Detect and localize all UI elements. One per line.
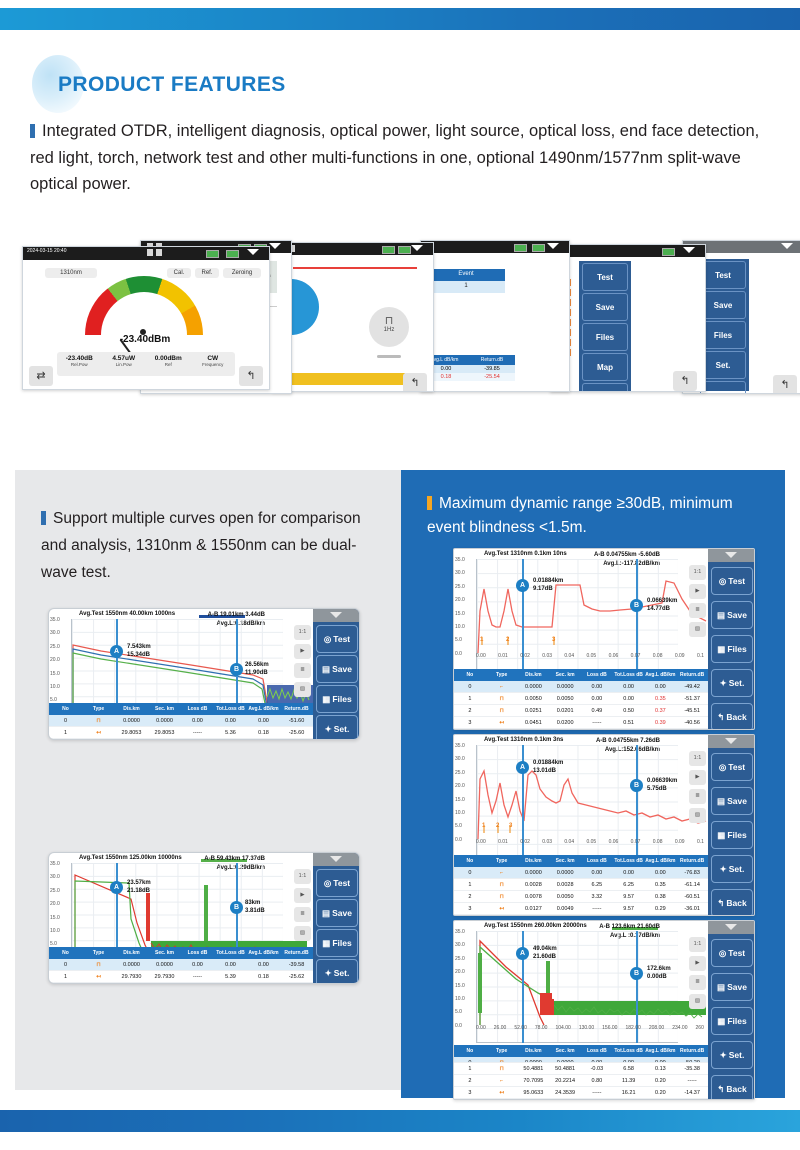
cell-sec: 50.4881 bbox=[549, 1063, 581, 1074]
target-icon: ◎ bbox=[324, 878, 331, 889]
play-icon[interactable]: ▶ bbox=[689, 770, 706, 785]
readout-label: Rel.Pow bbox=[57, 362, 102, 367]
plot-tools[interactable]: 1:1 ▶ ≣ ▨ bbox=[689, 751, 706, 827]
table-row[interactable]: 0 ⌐ 0.0000 0.0000 0.00 0.00 0.00 -49.42 bbox=[454, 681, 708, 693]
menu-item-test[interactable]: Test bbox=[582, 263, 628, 291]
menu-item-files[interactable]: Files bbox=[700, 321, 746, 349]
power-meter-body: 1310nm Cal. Ref. Zeroing -23.40dBm -23.4… bbox=[23, 260, 269, 390]
table-row[interactable]: 1 ⊓ 0.0028 0.0028 6.25 6.25 0.35 -61.14 bbox=[454, 879, 708, 891]
y-tick: 30.0 bbox=[50, 630, 60, 643]
plot-tools[interactable]: 1:1 ▶ ≣ ▨ bbox=[294, 625, 311, 701]
settings-button[interactable]: ✦Set. bbox=[316, 959, 358, 984]
cell-sec: 24.3539 bbox=[549, 1087, 581, 1098]
cell-tot: 0.00 bbox=[613, 867, 645, 878]
files-button[interactable]: ▦Files bbox=[711, 821, 753, 849]
x-tick: 0.07 bbox=[631, 653, 641, 659]
cell-avg: 0.35 bbox=[645, 879, 677, 890]
col-return: Return.dB bbox=[280, 703, 313, 715]
col-tot: Tot.Loss dB bbox=[613, 855, 645, 867]
col-return: Return.dB bbox=[676, 855, 708, 867]
marker-b-loss: 0.00dB bbox=[647, 973, 671, 981]
x-tick: 52.00 bbox=[514, 1025, 527, 1031]
folder-icon: ▦ bbox=[322, 694, 330, 705]
save-button[interactable]: ▤Save bbox=[316, 655, 358, 683]
cell-dis: 0.0000 bbox=[518, 1057, 550, 1062]
list-icon[interactable]: ≣ bbox=[294, 663, 311, 678]
cell-tot: 9.57 bbox=[613, 891, 645, 902]
x-tick: 0.07 bbox=[631, 839, 641, 845]
table-row[interactable]: 2 ⌐ 70.7095 20.2214 0.80 11.39 0.20 ----… bbox=[454, 1075, 708, 1087]
readout-value: 4.57uW bbox=[102, 355, 147, 362]
chart-icon[interactable]: ▨ bbox=[294, 926, 311, 941]
cell-dis: 0.0127 bbox=[518, 903, 550, 914]
bullet-marker bbox=[427, 496, 432, 510]
cell-dis: 29.8053 bbox=[115, 727, 148, 738]
settings-button[interactable]: ✦Set. bbox=[316, 715, 358, 740]
cell-type-icon: ⊓ bbox=[82, 715, 115, 726]
cell-tot: 9.57 bbox=[613, 903, 645, 914]
test-button[interactable]: ◎Test bbox=[316, 625, 358, 653]
y-tick: 30.0 bbox=[455, 942, 465, 955]
col-avg: Avg.L dB/km bbox=[645, 855, 677, 867]
gear-icon: ✦ bbox=[325, 724, 332, 735]
otdr-plot: Avg.Test 1310nm 0.1km 10ns A-B 0.04755km… bbox=[454, 549, 708, 729]
target-icon: ◎ bbox=[719, 762, 726, 773]
col-avg: Avg.L dB/km bbox=[645, 669, 677, 681]
side-button-bar: ◎Test ▤Save ▦Files ✦Set. ↰Back bbox=[708, 735, 754, 915]
list-icon[interactable]: ≣ bbox=[689, 789, 706, 804]
table-row[interactable]: 0 ⊓ 0.0000 0.0000 0.00 0.00 0.00 -51.60 bbox=[49, 715, 313, 727]
cell-loss: ----- bbox=[581, 1087, 613, 1098]
panel-left-label: Support multiple curves open for compari… bbox=[41, 510, 361, 581]
table-row[interactable]: 2 ⊓ 0.0251 0.0201 0.49 0.50 0.37 -45.51 bbox=[454, 705, 708, 717]
menu-item-map[interactable]: Map bbox=[582, 353, 628, 381]
status-bar-yellow bbox=[281, 373, 405, 385]
y-tick: 15.0 bbox=[455, 983, 465, 996]
sd-card-icon bbox=[156, 249, 162, 256]
test-button[interactable]: ◎Test bbox=[711, 939, 753, 967]
marker-a[interactable]: A bbox=[110, 881, 123, 894]
y-tick: 35.0 bbox=[455, 929, 465, 942]
cell-loss: -0.03 bbox=[581, 1063, 613, 1074]
floppy-icon: ▤ bbox=[717, 982, 725, 993]
x-tick: 0.01 bbox=[498, 653, 508, 659]
ratio-button[interactable]: 1:1 bbox=[689, 937, 706, 952]
cell-no: 2 bbox=[454, 891, 486, 902]
cell-no: 1 bbox=[454, 693, 486, 704]
gear-icon: ✦ bbox=[325, 968, 332, 979]
plot-tools[interactable]: 1:1 ▶ ≣ ▨ bbox=[689, 937, 706, 1013]
y-tick: 15.0 bbox=[455, 611, 465, 624]
menu-item-back[interactable]: Back bbox=[700, 381, 746, 394]
marker-b-label: 0.06639km 5.75dB bbox=[647, 777, 677, 793]
red-line-decoration bbox=[293, 267, 417, 269]
col-dis: Dis.km bbox=[115, 947, 148, 959]
save-button[interactable]: ▤Save bbox=[711, 973, 753, 1001]
cell-dis: 0.0000 bbox=[115, 715, 148, 726]
marker-a[interactable]: A bbox=[110, 645, 123, 658]
x-tick: 130.00 bbox=[579, 1025, 594, 1031]
chart-title: Avg.Test 1310nm 0.1km 3ns bbox=[484, 737, 704, 743]
col-return: Return.dB bbox=[676, 1045, 708, 1057]
x-tick: 0.08 bbox=[653, 653, 663, 659]
cell-type-icon: ↤ bbox=[82, 727, 115, 738]
event-mark-2: 2 bbox=[506, 637, 509, 643]
save-button[interactable]: ▤Save bbox=[316, 899, 358, 927]
panel-right-text: Maximum dynamic range ≥30dB, minimum eve… bbox=[427, 492, 767, 540]
cell-sec: 0.0000 bbox=[549, 681, 581, 692]
otdr-screenshot-left-1: Avg.Test 1550nm 40.00km 1000ns A-B 19.01… bbox=[48, 608, 360, 740]
chart-icon[interactable]: ▨ bbox=[689, 994, 706, 1009]
cell-loss: ----- bbox=[581, 903, 613, 914]
cell-sec: 0.0000 bbox=[549, 867, 581, 878]
menu-item-test[interactable]: Test bbox=[700, 261, 746, 289]
panel-right-label: Maximum dynamic range ≥30dB, minimum eve… bbox=[427, 495, 733, 536]
y-axis: 35.0 30.0 25.0 20.0 15.0 10.0 5.0 0.0 bbox=[455, 743, 465, 850]
cell-return: -61.14 bbox=[676, 879, 708, 890]
event-table: No Type Dis.km Sec. km Loss dB Tot.Loss … bbox=[454, 669, 708, 729]
cell-type-icon: ↤ bbox=[486, 1087, 518, 1098]
marker-a-label: 23.57km 21.18dB bbox=[127, 879, 151, 895]
gear-icon: ✦ bbox=[720, 678, 727, 689]
panel-multi-curve: Support multiple curves open for compari… bbox=[15, 470, 401, 1090]
y-tick: 5.0 bbox=[455, 823, 465, 836]
zeroing-button[interactable]: Zeroing bbox=[223, 268, 261, 278]
cell-type-icon: ↤ bbox=[82, 971, 115, 982]
cell-sec: 0.0050 bbox=[549, 891, 581, 902]
cell-sec: 0.0000 bbox=[148, 715, 181, 726]
event-mark-3: 3 bbox=[509, 823, 512, 829]
cell-sec: 0.0000 bbox=[148, 959, 181, 970]
menu-item-save[interactable]: Save bbox=[582, 293, 628, 321]
cell-dis: 0.0000 bbox=[518, 681, 550, 692]
cell-no: 0 bbox=[454, 681, 486, 692]
cell-avg: 0.00 bbox=[645, 867, 677, 878]
play-icon[interactable]: ▶ bbox=[689, 584, 706, 599]
cell-no: 0 bbox=[49, 715, 82, 726]
play-icon[interactable]: ▶ bbox=[294, 888, 311, 903]
cell-avg: 0.20 bbox=[645, 1075, 677, 1086]
marker-a-label: 0.01884km 13.01dB bbox=[533, 759, 563, 775]
cell-type-icon: ↤ bbox=[486, 903, 518, 914]
col-loss: Loss dB bbox=[181, 947, 214, 959]
test-button[interactable]: ◎Test bbox=[711, 567, 753, 595]
marker-a-loss: 9.17dB bbox=[533, 585, 563, 593]
marker-b-label: 83km 3.81dB bbox=[245, 899, 265, 915]
marker-a[interactable]: A bbox=[516, 947, 529, 960]
gear-icon: ✦ bbox=[720, 1050, 727, 1061]
settings-button[interactable]: ✦Set. bbox=[711, 669, 753, 697]
y-tick: 25.0 bbox=[455, 770, 465, 783]
cell-loss: 0.00 bbox=[581, 1057, 613, 1062]
cell-type-icon: ⊓ bbox=[486, 1063, 518, 1074]
x-tick: 234.00 bbox=[672, 1025, 687, 1031]
marker-a-loss: 13.01dB bbox=[533, 767, 563, 775]
y-tick: 30.0 bbox=[455, 570, 465, 583]
table-row[interactable]: 1 ⊓ 0.0050 0.0050 0.00 0.00 0.35 -51.37 bbox=[454, 693, 708, 705]
play-icon[interactable]: ▶ bbox=[689, 956, 706, 971]
y-tick: 10.0 bbox=[455, 996, 465, 1009]
cell-no: 3 bbox=[454, 903, 486, 914]
marker-a-loss: 21.18dB bbox=[127, 887, 151, 895]
cell-sec: 0.0049 bbox=[549, 903, 581, 914]
table-row[interactable]: 3 ↤ 0.0451 0.0200 ----- 0.51 0.39 -40.56 bbox=[454, 717, 708, 729]
y-tick: 0.0 bbox=[455, 1023, 465, 1036]
y-tick: 10.0 bbox=[50, 928, 60, 941]
y-tick: 10.0 bbox=[455, 810, 465, 823]
col-tot: Tot.Loss dB bbox=[214, 947, 247, 959]
cell-type-icon: ⊓ bbox=[486, 891, 518, 902]
cell-return: -25.62 bbox=[280, 971, 313, 982]
swap-icon[interactable]: ⇄ bbox=[29, 366, 53, 386]
settings-button[interactable]: ✦Set. bbox=[711, 1041, 753, 1069]
cell-tot: 0.00 bbox=[613, 693, 645, 704]
readout-label: Frequency bbox=[191, 362, 236, 367]
floppy-icon: ▤ bbox=[322, 908, 330, 919]
marker-b-loss: 14.77dB bbox=[647, 605, 677, 613]
plot-tools[interactable]: 1:1 ▶ ≣ ▨ bbox=[294, 869, 311, 945]
col-return: Return.dB bbox=[676, 669, 708, 681]
cell-loss: ----- bbox=[181, 971, 214, 982]
col-avg: Avg.L dB/km bbox=[247, 947, 280, 959]
panel-dynamic-range: Maximum dynamic range ≥30dB, minimum eve… bbox=[401, 470, 785, 1098]
marker-b[interactable]: B bbox=[630, 779, 643, 792]
y-tick: 25.0 bbox=[455, 584, 465, 597]
table-row[interactable]: 1 ↤ 29.8053 29.8053 ----- 5.36 0.18 -25.… bbox=[49, 727, 313, 739]
cell-return: -49.42 bbox=[676, 681, 708, 692]
side-button-bar: ◎Test ▤Save ▦Files ✦Set. ↰Back bbox=[313, 609, 359, 739]
x-tick: 0.1 bbox=[697, 839, 704, 845]
trace-curves bbox=[71, 619, 313, 713]
cell-return: ----- bbox=[676, 1075, 708, 1086]
col-type: Type bbox=[82, 703, 115, 715]
gear-icon: ✦ bbox=[720, 864, 727, 875]
cell-type-icon: ⊓ bbox=[82, 959, 115, 970]
cell-tot: 11.39 bbox=[613, 1075, 645, 1086]
list-icon[interactable]: ≣ bbox=[294, 907, 311, 922]
y-tick: 30.0 bbox=[50, 874, 60, 887]
device-screen-power-meter: 2024-03-15 20:40 1310nm Cal. Ref. Zeroin… bbox=[22, 246, 270, 390]
col-dis: Dis.km bbox=[115, 703, 148, 715]
table-row[interactable]: 1 ↤ 29.7930 29.7930 ----- 5.39 0.18 -25.… bbox=[49, 971, 313, 983]
marker-b[interactable]: B bbox=[230, 901, 243, 914]
list-icon[interactable]: ≣ bbox=[689, 975, 706, 990]
y-tick: 10.0 bbox=[50, 684, 60, 697]
chart-icon[interactable]: ▨ bbox=[294, 682, 311, 697]
table-row[interactable]: 0 ⊓ 0.0000 0.0000 0.00 0.00 0.00 -39.58 bbox=[49, 959, 313, 971]
back-icon[interactable]: ↰ bbox=[403, 373, 427, 392]
save-button[interactable]: ▤Save bbox=[711, 601, 753, 629]
play-icon[interactable]: ▶ bbox=[294, 644, 311, 659]
chart-title: Avg.Test 1550nm 260.00km 20000ns bbox=[484, 923, 704, 929]
test-button[interactable]: ◎Test bbox=[711, 753, 753, 781]
cell-loss: 0.00 bbox=[181, 715, 214, 726]
y-tick: 35.0 bbox=[50, 617, 60, 630]
ratio-button[interactable]: 1:1 bbox=[294, 869, 311, 884]
otdr-screenshot-right-3: Avg.Test 1550nm 260.00km 20000ns A-B 123… bbox=[453, 920, 755, 1100]
ratio-button[interactable]: 1:1 bbox=[294, 625, 311, 640]
cell-no: 2 bbox=[454, 705, 486, 716]
back-button[interactable]: ↰Back bbox=[711, 703, 753, 730]
back-icon[interactable]: ↰ bbox=[773, 375, 797, 394]
cell-avg: 0.13 bbox=[645, 1063, 677, 1074]
cell-sec: 0.0000 bbox=[549, 1057, 581, 1062]
cell-avg: 0.37 bbox=[645, 705, 677, 716]
back-icon: ↰ bbox=[717, 1084, 724, 1095]
table-row[interactable]: 0 ⌐ 0.0000 0.0000 0.00 0.00 0.00 -76.83 bbox=[454, 867, 708, 879]
cell-tot: 0.00 bbox=[613, 1057, 645, 1062]
cell-type-icon: ⊓ bbox=[486, 1057, 518, 1062]
cell-tot: 0.00 bbox=[214, 715, 247, 726]
x-tick: 0.00 bbox=[476, 653, 486, 659]
table-row[interactable]: 1 ⊓ 50.4881 50.4881 -0.03 6.58 0.13 -35.… bbox=[454, 1063, 708, 1075]
col-tot: Tot.Loss dB bbox=[613, 1045, 645, 1057]
marker-a-distance: 0.01884km bbox=[533, 759, 563, 767]
col-no: No bbox=[49, 947, 82, 959]
marker-b[interactable]: B bbox=[630, 599, 643, 612]
col-avg: Avg.L dB/km bbox=[247, 703, 280, 715]
cell-sec: 0.0200 bbox=[549, 717, 581, 728]
list-icon[interactable]: ≣ bbox=[689, 603, 706, 618]
y-tick: 25.0 bbox=[455, 956, 465, 969]
back-icon[interactable]: ↰ bbox=[239, 366, 263, 386]
cell-dis: 50.4881 bbox=[518, 1063, 550, 1074]
marker-b-loss: 3.81dB bbox=[245, 907, 265, 915]
floppy-icon: ▤ bbox=[717, 610, 725, 621]
table-row[interactable]: 2 ⊓ 0.0078 0.0050 3.32 9.57 0.38 -60.51 bbox=[454, 891, 708, 903]
x-tick: 104.00 bbox=[555, 1025, 570, 1031]
cell-tot: 16.21 bbox=[613, 1087, 645, 1098]
x-tick: 0.03 bbox=[542, 839, 552, 845]
cell-loss: 0.49 bbox=[581, 705, 613, 716]
col-dis: Dis.km bbox=[518, 669, 550, 681]
x-tick: 0.04 bbox=[564, 839, 574, 845]
readout-value: CW bbox=[191, 355, 236, 362]
cell-avg: 0.00 bbox=[645, 681, 677, 692]
cell-no: 0 bbox=[49, 959, 82, 970]
floppy-icon: ▤ bbox=[322, 664, 330, 675]
event-table: No Type Dis.km Sec. km Loss dB Tot.Loss … bbox=[454, 855, 708, 915]
marker-b[interactable]: B bbox=[630, 967, 643, 980]
col-sec: Sec. km bbox=[148, 947, 181, 959]
y-tick: 20.0 bbox=[50, 901, 60, 914]
device-screenshot-row: Test Save Files Set. Back ↰ Test Save Fi… bbox=[22, 240, 782, 400]
cell-loss: 6.25 bbox=[581, 879, 613, 890]
chart-icon[interactable]: ▨ bbox=[689, 808, 706, 823]
cell-dis: 0.0050 bbox=[518, 693, 550, 704]
back-button[interactable]: ↰Back bbox=[711, 1075, 753, 1100]
cell-no: 1 bbox=[454, 879, 486, 890]
settings-button[interactable]: ✦Set. bbox=[711, 855, 753, 883]
mini-col-return: Return.dB bbox=[469, 355, 515, 365]
folder-icon: ▦ bbox=[717, 1016, 725, 1027]
cell-return: -50.29 bbox=[676, 1057, 708, 1062]
cell-type-icon: ⌐ bbox=[486, 681, 518, 692]
x-axis: 0.00 26.00 52.00 78.00 104.00 130.00 156… bbox=[476, 1025, 704, 1031]
cell-type-icon: ⌐ bbox=[486, 1075, 518, 1086]
col-type: Type bbox=[486, 1045, 518, 1057]
statusbar-time: 2024-03-15 20:40 bbox=[27, 248, 66, 254]
event-mark-2: 2 bbox=[496, 823, 499, 829]
otdr-screenshot-left-2: Avg.Test 1550nm 125.00km 10000ns A-B 59.… bbox=[48, 852, 360, 984]
col-loss: Loss dB bbox=[181, 703, 214, 715]
menu-item-save[interactable]: Save bbox=[700, 291, 746, 319]
trace-curves bbox=[71, 863, 313, 957]
marker-b-distance: 0.06639km bbox=[647, 597, 677, 605]
cell-dis: 0.0000 bbox=[518, 867, 550, 878]
cell-dis: 95.0633 bbox=[518, 1087, 550, 1098]
col-loss: Loss dB bbox=[581, 669, 613, 681]
readout-label: Ref bbox=[146, 362, 191, 367]
plot-tools[interactable]: 1:1 ▶ ≣ ▨ bbox=[689, 565, 706, 641]
event-table: No Type Dis.km Sec. km Loss dB Tot.Loss … bbox=[454, 1045, 708, 1099]
col-sec: Sec. km bbox=[148, 703, 181, 715]
marker-b[interactable]: B bbox=[230, 663, 243, 676]
col-return: Return.dB bbox=[280, 947, 313, 959]
table-row[interactable]: 3 ↤ 0.0127 0.0049 ----- 9.57 0.29 -36.01 bbox=[454, 903, 708, 915]
save-button[interactable]: ▤Save bbox=[711, 787, 753, 815]
menu-item-files[interactable]: Files bbox=[582, 323, 628, 351]
cell-avg: 0.00 bbox=[247, 959, 280, 970]
marker-a-distance: 23.57km bbox=[127, 879, 151, 887]
cell-sec: 0.0050 bbox=[549, 693, 581, 704]
col-no: No bbox=[454, 669, 486, 681]
cell-dis: 0.0251 bbox=[518, 705, 550, 716]
y-tick: 35.0 bbox=[50, 861, 60, 874]
marker-a[interactable]: A bbox=[516, 761, 529, 774]
x-tick: 0.04 bbox=[564, 653, 574, 659]
marker-b-distance: 26.56km bbox=[245, 661, 269, 669]
ratio-button[interactable]: 1:1 bbox=[689, 751, 706, 766]
cell-return: -40.56 bbox=[676, 717, 708, 728]
col-no: No bbox=[49, 703, 82, 715]
files-button[interactable]: ▦Files bbox=[316, 685, 358, 713]
files-button[interactable]: ▦Files bbox=[316, 929, 358, 957]
files-button[interactable]: ▦Files bbox=[711, 635, 753, 663]
y-tick: 15.0 bbox=[455, 797, 465, 810]
table-row[interactable]: 3 ↤ 95.0633 24.3539 ----- 16.21 0.20 -14… bbox=[454, 1087, 708, 1099]
files-button[interactable]: ▦Files bbox=[711, 1007, 753, 1035]
cell-avg: 0.29 bbox=[645, 903, 677, 914]
test-button[interactable]: ◎Test bbox=[316, 869, 358, 897]
mini-cell: -39.85 bbox=[469, 365, 515, 373]
top-accent-bar bbox=[0, 8, 800, 30]
cell-avg: 0.39 bbox=[645, 717, 677, 728]
bullet-marker bbox=[30, 124, 35, 138]
x-tick: 260 bbox=[696, 1025, 704, 1031]
col-dis: Dis.km bbox=[518, 855, 550, 867]
otdr-screenshot-right-1: Avg.Test 1310nm 0.1km 10ns A-B 0.04755km… bbox=[453, 548, 755, 730]
ratio-button[interactable]: 1:1 bbox=[689, 565, 706, 580]
cell-return: -39.58 bbox=[280, 959, 313, 970]
frequency-button[interactable]: ⊓ 1Hz bbox=[369, 307, 409, 347]
otdr-plot: Avg.Test 1550nm 40.00km 1000ns A-B 19.01… bbox=[49, 609, 313, 739]
power-readout-strip: -23.40dBRel.Pow 4.57uWLin.Pow 0.00dBmRef… bbox=[57, 352, 235, 376]
col-avg: Avg.L dB/km bbox=[645, 1045, 677, 1057]
cell-no: 0 bbox=[454, 867, 486, 878]
back-icon[interactable]: ↰ bbox=[673, 371, 697, 391]
marker-a-distance: 49.04km bbox=[533, 945, 557, 953]
chart-icon[interactable]: ▨ bbox=[689, 622, 706, 637]
marker-a[interactable]: A bbox=[516, 579, 529, 592]
marker-b-loss: 5.75dB bbox=[647, 785, 677, 793]
folder-icon: ▦ bbox=[717, 644, 725, 655]
back-button[interactable]: ↰Back bbox=[711, 889, 753, 916]
x-tick: 0.02 bbox=[520, 653, 530, 659]
menu-item-back[interactable]: Back bbox=[582, 383, 628, 392]
cell-loss: ----- bbox=[581, 717, 613, 728]
menu-item-set[interactable]: Set. bbox=[700, 351, 746, 379]
